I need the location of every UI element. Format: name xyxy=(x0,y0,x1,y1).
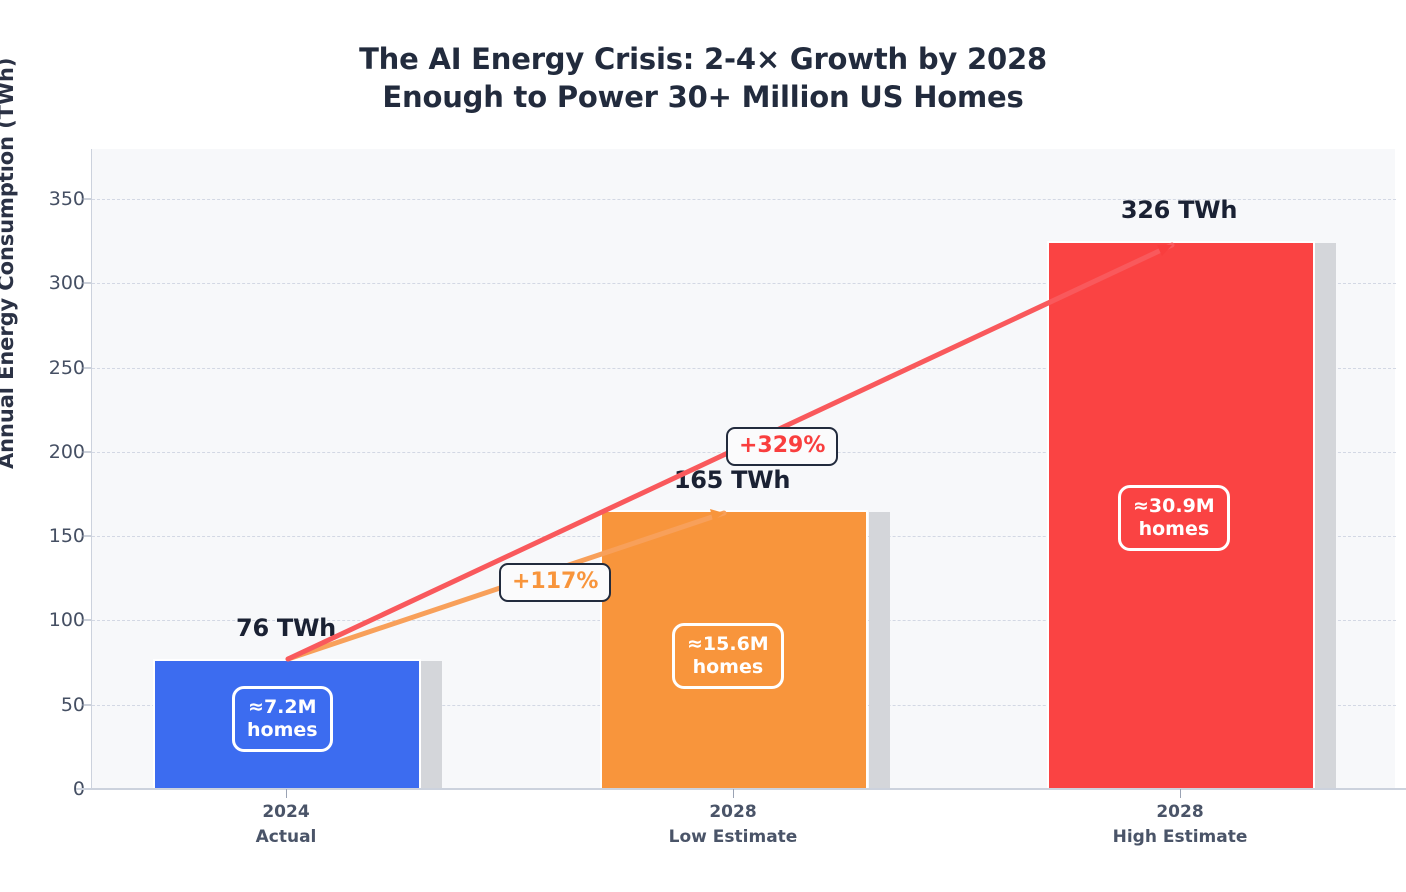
homes-badge-2024: ≈7.2M homes xyxy=(232,686,333,752)
x-tick-year: 2028 xyxy=(1080,800,1280,825)
x-tick-year: 2028 xyxy=(633,800,833,825)
y-tick-label: 250 xyxy=(25,357,85,379)
y-tick-mark xyxy=(82,451,91,452)
homes-badge-unit: homes xyxy=(693,656,764,678)
bar-value-label-2028-high: 326 TWh xyxy=(1079,196,1279,224)
bar-shadow xyxy=(1315,243,1336,789)
x-tick-mark xyxy=(286,789,287,798)
y-axis-label: Annual Energy Consumption (TWh) xyxy=(0,58,18,469)
x-tick-sub: High Estimate xyxy=(1080,825,1280,850)
homes-badge-value: ≈15.6M xyxy=(687,633,769,655)
y-tick-label: 350 xyxy=(25,188,85,210)
bar-value-label-2024: 76 TWh xyxy=(186,614,386,642)
y-tick-label: 300 xyxy=(25,272,85,294)
y-tick-label: 200 xyxy=(25,441,85,463)
y-tick-mark xyxy=(82,536,91,537)
y-tick-label: 100 xyxy=(25,609,85,631)
x-tick-sub: Actual xyxy=(186,825,386,850)
y-tick-label: 150 xyxy=(25,525,85,547)
homes-badge-value: ≈30.9M xyxy=(1133,495,1215,517)
y-tick-label: 50 xyxy=(25,694,85,716)
x-axis-line xyxy=(76,788,1406,790)
homes-badge-2028-high: ≈30.9M homes xyxy=(1118,485,1230,551)
x-tick-mark xyxy=(733,789,734,798)
y-tick-mark xyxy=(82,367,91,368)
y-tick-mark xyxy=(82,620,91,621)
homes-badge-2028-low: ≈15.6M homes xyxy=(672,623,784,689)
homes-badge-unit: homes xyxy=(247,719,318,741)
x-tick-sub: Low Estimate xyxy=(633,825,833,850)
chart-root: The AI Energy Crisis: 2-4× Growth by 202… xyxy=(0,0,1406,892)
homes-badge-unit: homes xyxy=(1139,518,1210,540)
homes-badge-value: ≈7.2M xyxy=(248,696,317,718)
title-line-2: Enough to Power 30+ Million US Homes xyxy=(0,78,1406,116)
bar-value-label-2028-low: 165 TWh xyxy=(632,466,832,494)
page-title: The AI Energy Crisis: 2-4× Growth by 202… xyxy=(0,40,1406,117)
growth-badge-117: +117% xyxy=(499,563,611,602)
bar-shadow xyxy=(869,512,890,789)
y-tick-mark xyxy=(82,283,91,284)
x-tick-label-2024-actual: 2024 Actual xyxy=(186,800,386,849)
bar-shadow xyxy=(421,661,442,789)
title-line-1: The AI Energy Crisis: 2-4× Growth by 202… xyxy=(0,40,1406,78)
y-tick-mark xyxy=(82,704,91,705)
x-tick-label-2028-high: 2028 High Estimate xyxy=(1080,800,1280,849)
growth-badge-329: +329% xyxy=(726,427,838,466)
x-tick-label-2028-low: 2028 Low Estimate xyxy=(633,800,833,849)
x-tick-year: 2024 xyxy=(186,800,386,825)
y-tick-mark xyxy=(82,199,91,200)
x-tick-mark xyxy=(1180,789,1181,798)
